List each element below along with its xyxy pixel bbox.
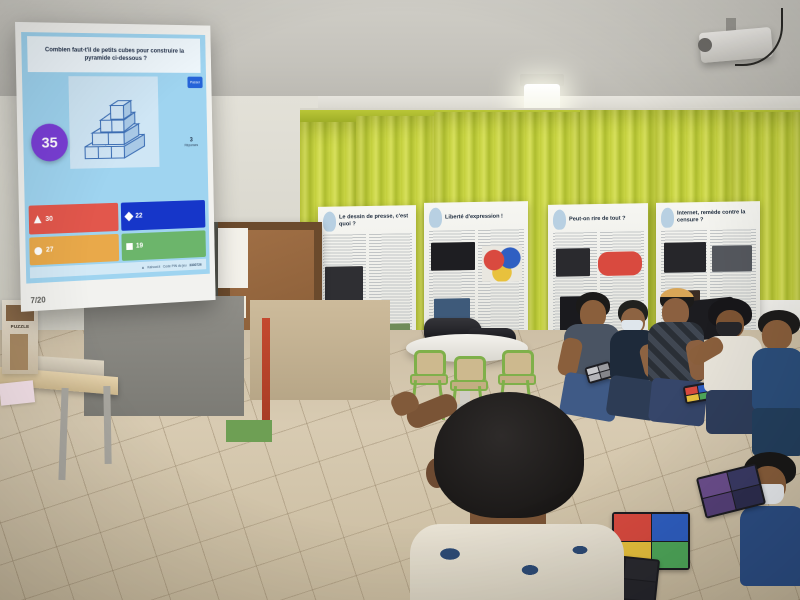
puzzle-box-panel: [10, 334, 28, 370]
skip-label: Passer: [190, 80, 200, 84]
answer-option-triangle[interactable]: 30: [29, 203, 119, 234]
kahoot-site: Kahoot.it: [147, 264, 160, 269]
classroom-photo: Le dessin de presse, c'est quoi ? Libert…: [0, 0, 800, 600]
square-icon: [126, 243, 133, 250]
tablet-answer-red[interactable]: [614, 514, 651, 541]
circle-icon: [34, 247, 42, 255]
bird-mascot-icon: [553, 210, 566, 230]
puzzle-box-label: PUZZLE: [3, 324, 37, 329]
answer-count-label: Réponses: [181, 143, 202, 147]
poster-thumbnail: [712, 245, 752, 272]
pink-flyer: [0, 380, 35, 405]
countdown-timer: 35: [31, 124, 68, 162]
skip-button[interactable]: Passer: [187, 77, 202, 88]
poster-thumbnail: [664, 242, 706, 273]
pinned-paper: [218, 228, 248, 288]
poster-header: Internet, remède contre la censure ?: [661, 206, 756, 228]
answer-option-square[interactable]: 19: [121, 230, 206, 261]
bird-mascot-icon: [429, 208, 442, 228]
answer-option-diamond[interactable]: 22: [120, 200, 205, 230]
poster-color-graphic: [482, 245, 522, 282]
poster-header: Liberté d'expression !: [429, 206, 524, 228]
timer-value: 35: [41, 134, 57, 151]
projection-screen: Combien faut-t'il de petits cubes pour c…: [15, 22, 216, 312]
poster-thumbnail: [325, 266, 363, 303]
kahoot-slide: Combien faut-t'il de petits cubes pour c…: [21, 32, 210, 284]
curly-hair: [434, 392, 584, 518]
student-6: [418, 392, 608, 600]
answer-counter: 3 Réponses: [181, 137, 203, 147]
bird-mascot-icon: [661, 208, 674, 228]
desk-leg: [103, 386, 111, 464]
poster-title: Peut-on rire de tout ?: [569, 215, 626, 223]
kahoot-pin-value: 3330726: [189, 262, 201, 266]
poster-header: Le dessin de presse, c'est quoi ?: [323, 210, 412, 232]
poster-thumbnail: [598, 251, 642, 276]
answer-value: 19: [136, 243, 143, 250]
poster-title: Internet, remède contre la censure ?: [677, 209, 756, 224]
bird-mascot-icon: [323, 212, 336, 232]
kahoot-logo-icon: ▲: [141, 265, 144, 269]
poster-title: Liberté d'expression !: [445, 213, 503, 221]
quiz-question-text: Combien faut-t'il de petits cubes pour c…: [33, 46, 195, 64]
poster-header: Peut-on rire de tout ?: [553, 208, 644, 230]
question-counter: 7/20: [30, 295, 45, 305]
poster-thumbnail: [431, 242, 475, 271]
answer-value: 27: [46, 247, 54, 254]
triangle-icon: [34, 215, 42, 223]
cube-pyramid-icon: [68, 76, 159, 169]
answer-value: 30: [45, 216, 53, 223]
answer-value: 22: [135, 212, 142, 219]
diamond-icon: [124, 211, 133, 221]
patterned-shirt: [410, 524, 624, 600]
tablet-answer-blue[interactable]: [652, 514, 689, 541]
answer-options: 30 22 27 19: [29, 200, 206, 265]
poster-title: Le dessin de presse, c'est quoi ?: [339, 214, 412, 229]
kahoot-pin-label: Code PIN du jeu: [163, 263, 187, 268]
poster-thumbnail: [556, 248, 590, 277]
green-crate: [226, 420, 272, 442]
question-media-panel: [68, 76, 159, 169]
cardboard-boxes: [250, 300, 390, 400]
quiz-question-box: Combien faut-t'il de petits cubes pour c…: [27, 36, 201, 73]
answer-option-circle[interactable]: 27: [29, 233, 118, 265]
